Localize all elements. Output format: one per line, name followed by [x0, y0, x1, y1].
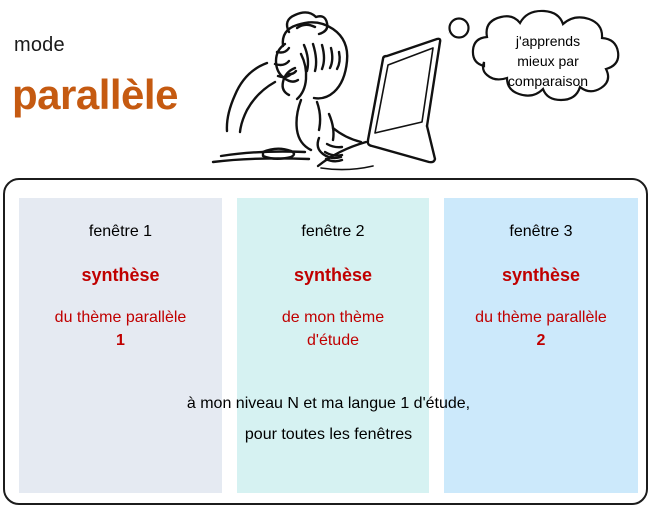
window-3-synthese: synthèse	[444, 264, 638, 286]
window-1-title: fenêtre 1	[19, 222, 222, 242]
thought-bubble-line-2: mieux par	[468, 51, 628, 71]
window-2-detail-line-2: d'étude	[307, 332, 359, 349]
window-3-detail-line-1: du thème parallèle	[475, 309, 607, 326]
header-banner: mode parallèle	[0, 0, 657, 178]
window-3-detail-line-2: 2	[537, 332, 546, 349]
window-1-detail-line-1: du thème parallèle	[55, 309, 187, 326]
thought-bubble-text: j'apprends mieux par comparaison	[468, 31, 628, 91]
mode-label: mode	[14, 34, 65, 56]
window-3-detail: du thème parallèle 2	[444, 306, 638, 352]
window-1-detail: du thème parallèle 1	[19, 306, 222, 352]
window-2-detail: de mon thème d'étude	[237, 306, 429, 352]
window-panel-3: fenêtre 3 synthèse du thème parallèle 2	[444, 198, 638, 493]
window-1-synthese: synthèse	[19, 264, 222, 286]
windows-row: fenêtre 1 synthèse du thème parallèle 1 …	[3, 198, 654, 493]
thought-bubble-line-1: j'apprends	[468, 31, 628, 51]
window-panel-2: fenêtre 2 synthèse de mon thème d'étude	[237, 198, 429, 493]
window-2-detail-line-1: de mon thème	[282, 309, 384, 326]
mode-name-title: parallèle	[12, 72, 178, 118]
window-panel-1: fenêtre 1 synthèse du thème parallèle 1	[19, 198, 222, 493]
window-2-title: fenêtre 2	[237, 222, 429, 242]
window-1-detail-line-2: 1	[116, 332, 125, 349]
person-studying-at-laptop-icon	[205, 2, 460, 178]
thought-bubble-line-3: comparaison	[468, 71, 628, 91]
window-2-synthese: synthèse	[237, 264, 429, 286]
window-3-title: fenêtre 3	[444, 222, 638, 242]
